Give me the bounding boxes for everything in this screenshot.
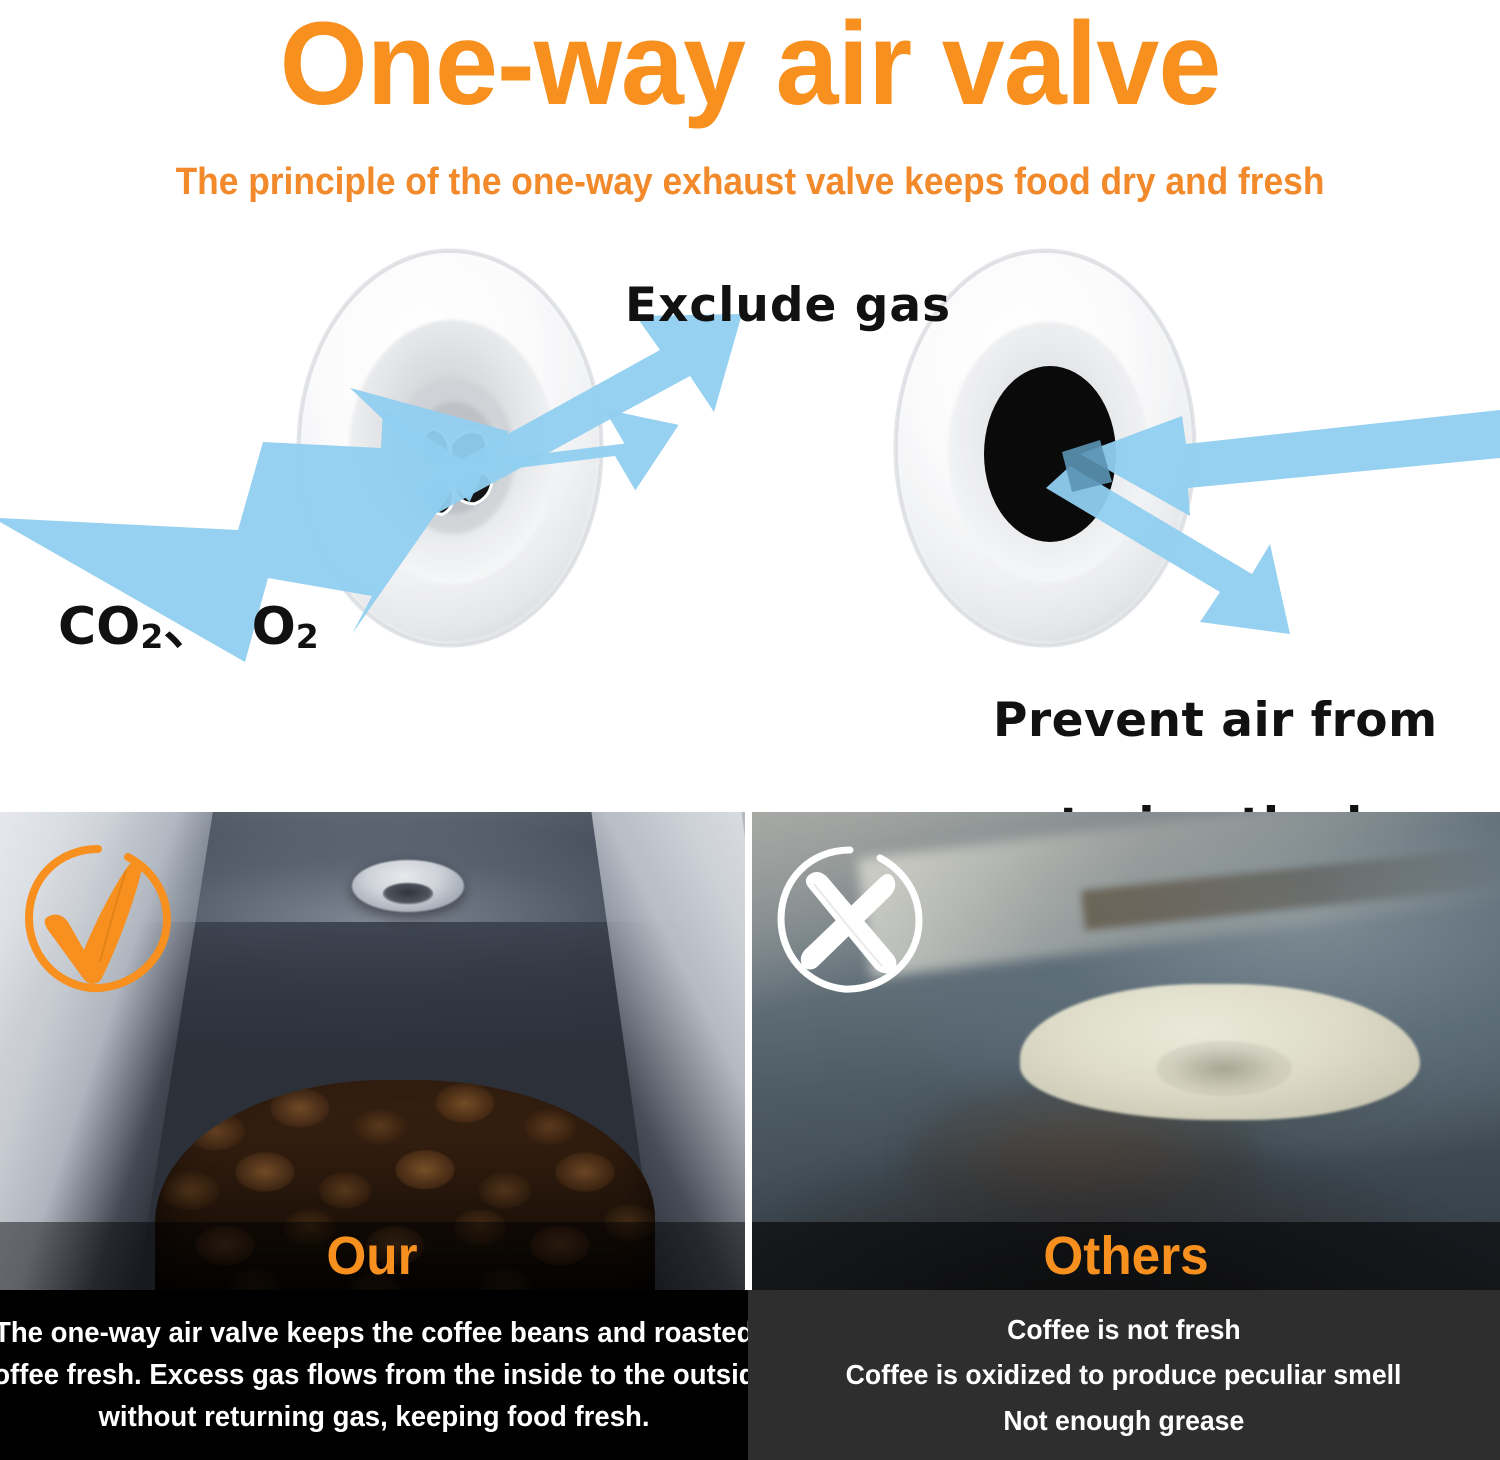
page-subtitle: The principle of the one-way exhaust val… [53,162,1448,204]
comparison-photos: Our Others [0,812,1500,1290]
others-caption-line-1: Coffee is not fresh [1007,1307,1241,1352]
our-label: Our [327,1229,418,1283]
our-caption-line-2: coffee fresh. Excess gas flows from the … [0,1354,771,1396]
gas-separator: 、 [163,597,215,657]
gas-in-label: CO2、 O2 [58,540,319,656]
check-mark-icon [18,840,178,1000]
others-label-band: Others [752,1222,1500,1290]
others-photo-pane: Others [752,812,1500,1290]
others-label: Others [1043,1229,1208,1283]
our-label-band: Our [0,1222,745,1290]
co2-text: CO [58,597,140,657]
bag-valve-icon [352,860,464,912]
our-caption-line-1: The one-way air valve keeps the coffee b… [0,1312,754,1354]
page-title: One-way air valve [30,5,1470,123]
prevent-air-line-1: Prevent air from [993,695,1447,748]
others-caption-line-2: Coffee is oxidized to produce peculiar s… [846,1352,1402,1397]
caption-section: The one-way air valve keeps the coffee b… [0,1290,1500,1460]
co2-subscript: 2 [140,617,163,656]
o2-subscript: 2 [296,617,319,656]
our-caption-line-3: without returning gas, keeping food fres… [98,1396,649,1438]
o2-text: O [252,597,296,657]
exclude-gas-label: Exclude gas [625,280,951,333]
cross-mark-icon [770,840,930,1000]
valve-diagram-section: Exclude gas CO2、 O2 Prevent air from ent… [0,230,1500,812]
header-section: One-way air valve The principle of the o… [0,0,1500,230]
our-photo-pane: Our [0,812,745,1290]
our-caption-block: The one-way air valve keeps the coffee b… [0,1290,748,1460]
others-caption-line-3: Not enough grease [1004,1398,1245,1443]
others-caption-block: Coffee is not fresh Coffee is oxidized t… [748,1290,1500,1460]
infographic-page: One-way air valve The principle of the o… [0,0,1500,1460]
